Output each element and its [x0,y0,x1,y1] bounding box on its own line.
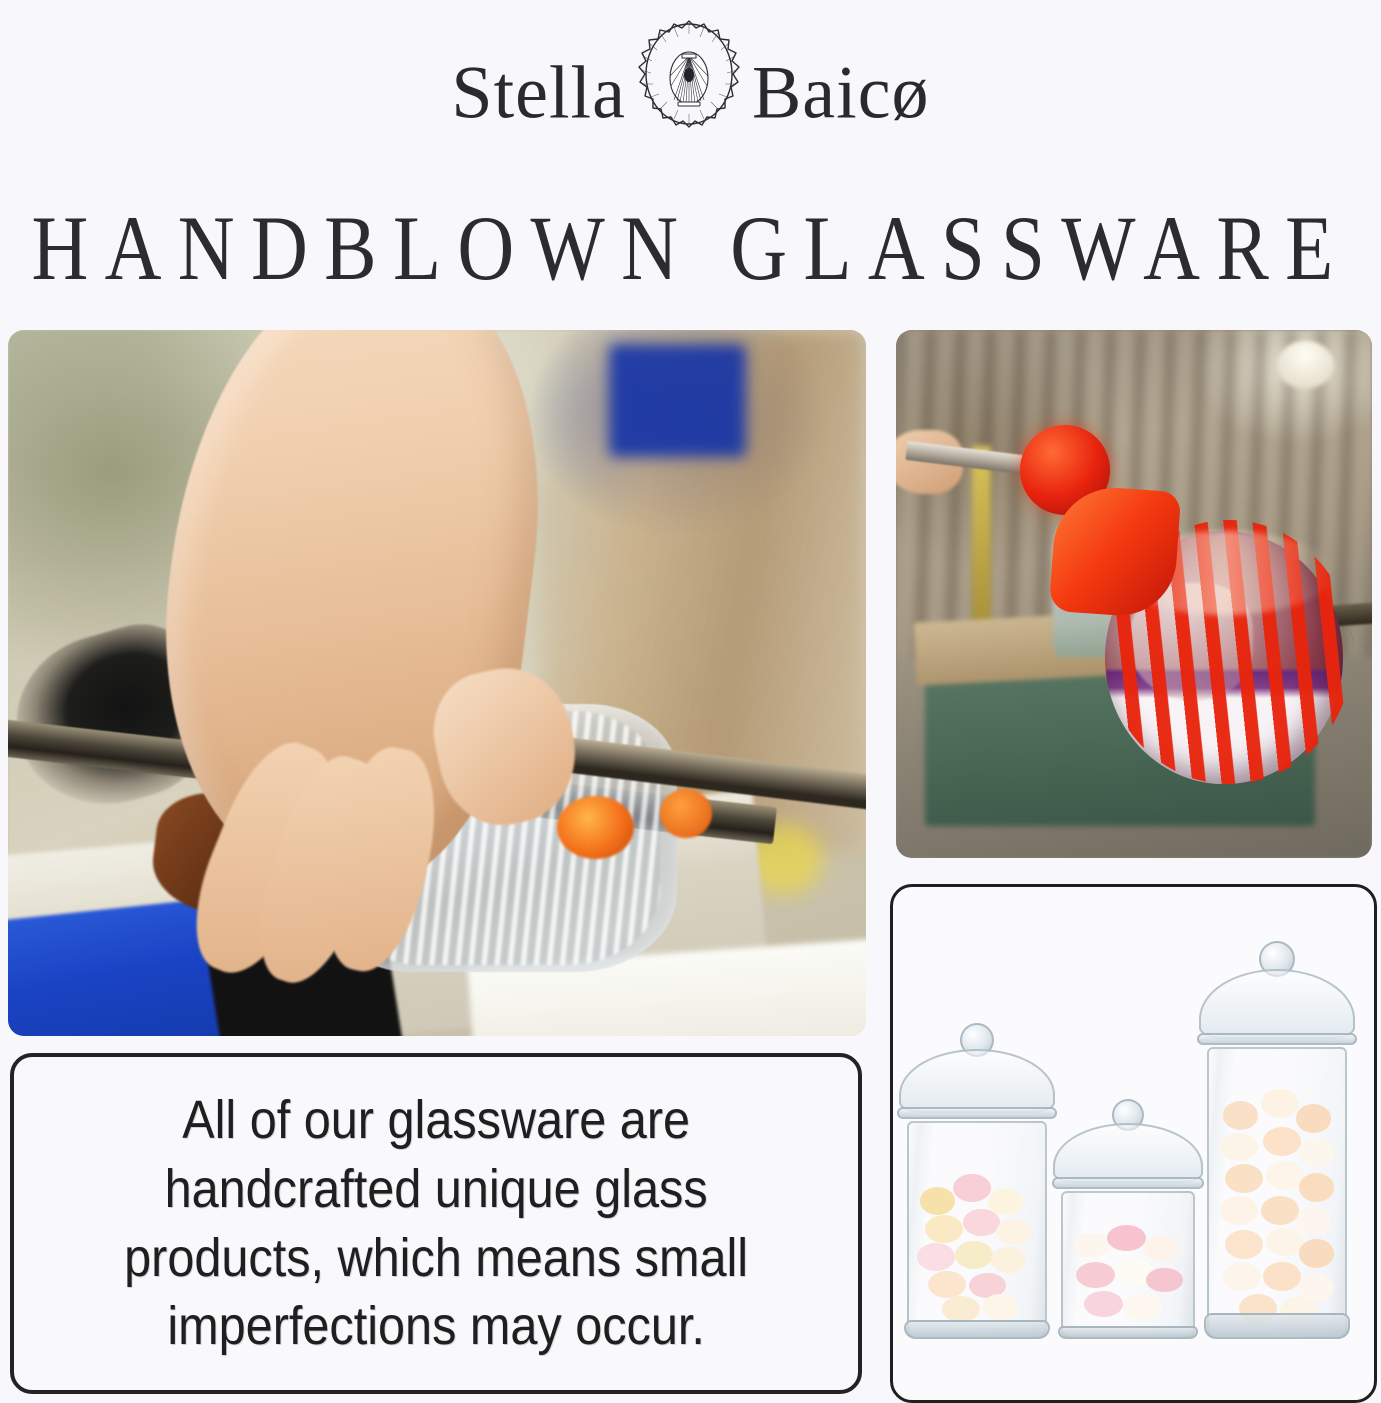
glassblower-shaping-glass-photo [8,330,866,1036]
yellow-post [972,446,991,626]
brand-name-first: Stella [451,55,626,130]
candy [1225,1230,1263,1259]
glass-apothecary-jars-photo [890,884,1377,1403]
candy [1296,1104,1331,1133]
candy [991,1247,1026,1273]
candy [1084,1291,1123,1317]
candy [1146,1268,1182,1292]
candy [1296,1207,1331,1236]
candy [928,1271,966,1299]
candy [1073,1233,1109,1257]
jar-body [1061,1191,1195,1339]
jar-lid-dome [1053,1123,1203,1183]
apothecary-jar-medium [907,1023,1047,1339]
candy [1299,1239,1334,1268]
candy [1144,1236,1180,1260]
candy [996,1219,1031,1245]
candy [1223,1262,1261,1291]
jar-lid-rim [1052,1177,1205,1189]
molten-red-glass-photo [896,330,1372,858]
brand-name-last: Baicø [752,55,930,130]
candy [1223,1101,1258,1130]
oval-sunburst-emblem-icon [630,18,748,168]
candy [1299,1173,1334,1202]
candy [1261,1196,1299,1225]
candy [982,1294,1017,1320]
candy [1299,1138,1334,1167]
candy [1263,1127,1301,1156]
candy [1123,1294,1162,1320]
candy [920,1187,955,1215]
candy [942,1296,980,1322]
candy [1220,1133,1258,1162]
jar-body [907,1121,1047,1339]
candy [953,1174,991,1202]
jar-base [1204,1313,1351,1339]
ceiling-lamp [1277,341,1334,389]
candy [1220,1196,1258,1225]
jar-lid-dome [1199,969,1356,1039]
jar-body [1207,1047,1347,1339]
candy [955,1241,993,1269]
jar-base [904,1320,1051,1339]
disclaimer-box: All of our glassware are handcrafted uni… [10,1053,862,1394]
candy [1225,1164,1263,1193]
candy [1263,1262,1301,1291]
jar-lid-rim [897,1107,1057,1119]
jar-base [1058,1326,1198,1339]
page-title: HANDBLOWN GLASSWARE [28,196,1354,301]
disclaimer-text: All of our glassware are handcrafted uni… [71,1086,800,1360]
amber-glow-spot-secondary [660,789,711,838]
candy [917,1243,955,1271]
candy [1076,1262,1115,1288]
apothecary-jar-tall [1207,941,1347,1339]
candy [1107,1225,1146,1251]
jar-lid-dome [899,1049,1056,1113]
apothecary-jar-small [1061,1099,1195,1339]
candy [925,1215,963,1243]
brand-header: Stella [0,0,1381,185]
jar-lid-rim [1197,1033,1357,1045]
candy [1261,1089,1299,1118]
candy [963,1209,1000,1237]
blue-equipment-blur [609,344,746,457]
